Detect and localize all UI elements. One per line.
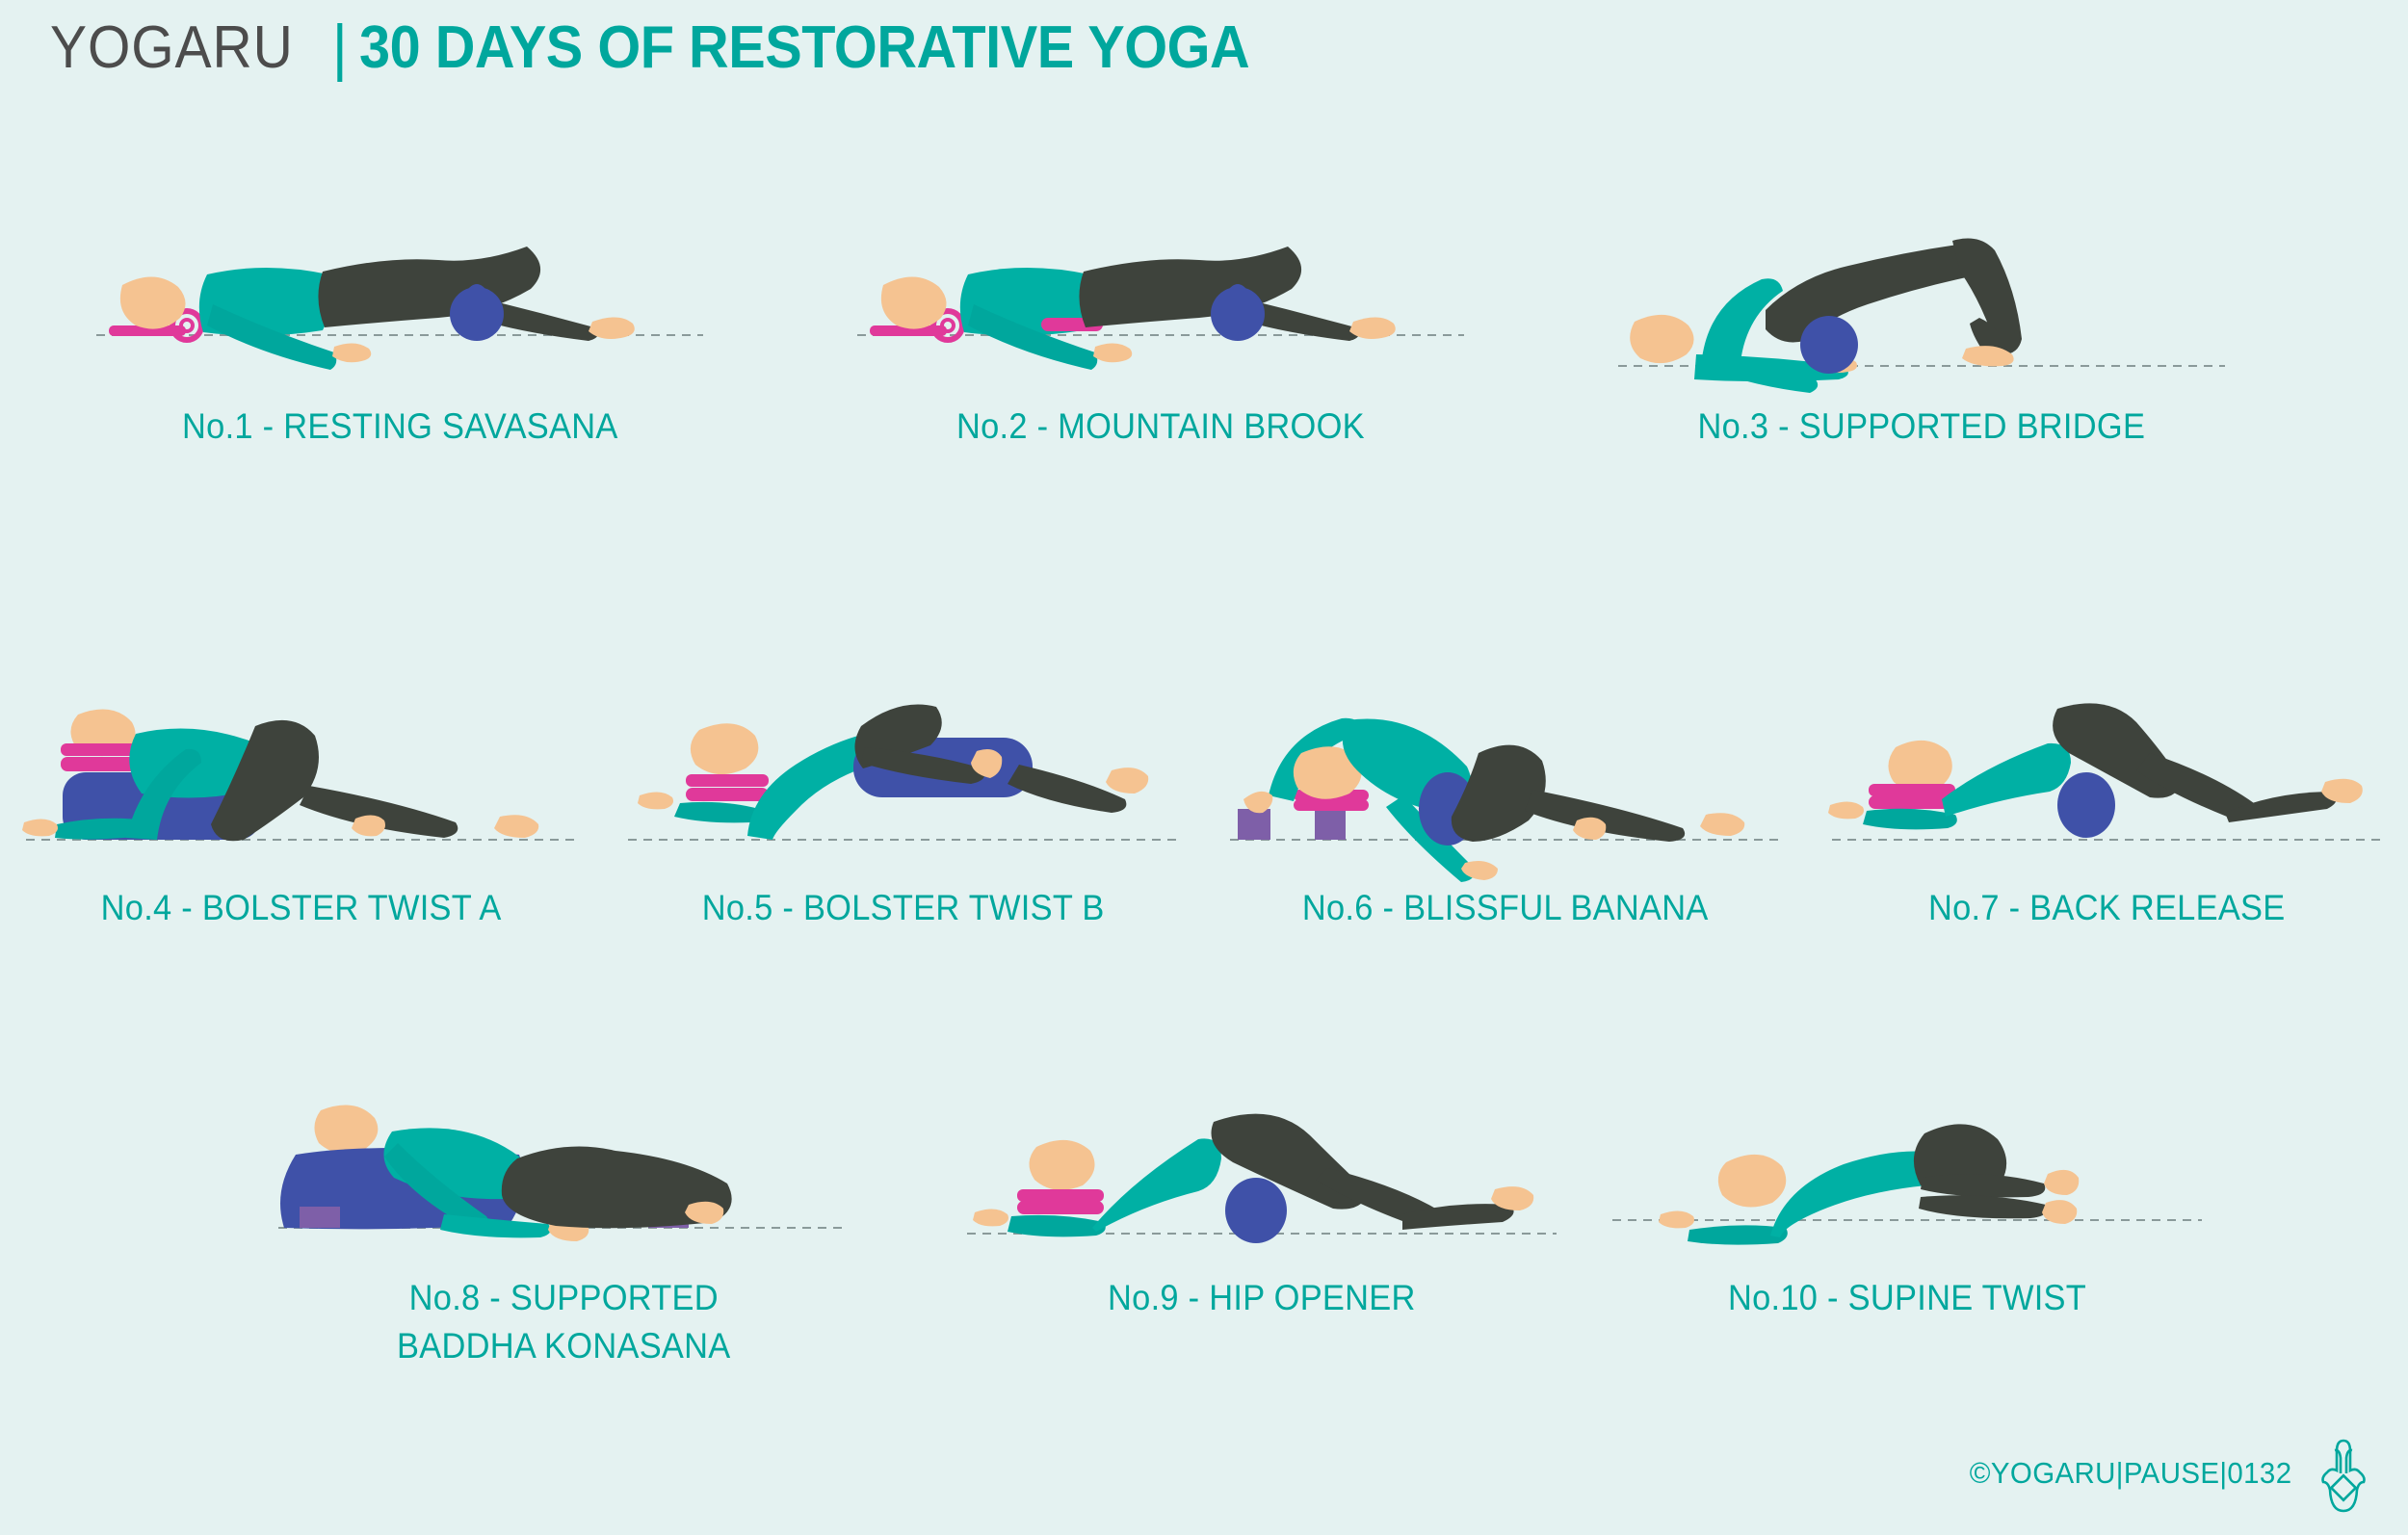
pose-caption-9: No.9 - HIP OPENER (1108, 1274, 1416, 1322)
torso-teal (1942, 743, 2071, 817)
pose-row-2: No.4 - BOLSTER TWIST A No.5 - BOLSTER TW… (0, 693, 2408, 932)
head (1029, 1140, 1094, 1190)
pose-caption-1: No.1 - RESTING SAVASANA (182, 403, 618, 451)
blue-bolster (2057, 772, 2115, 838)
page-title: 30 DAYS OF RESTORATIVE YOGA (359, 13, 1249, 82)
head (881, 276, 947, 328)
copyright-text: ©YOGARU|PAUSE|0132 (1970, 1456, 2292, 1491)
pose-card-7[interactable]: No.7 - BACK RELEASE (1806, 693, 2408, 932)
diamond-shape (2331, 1475, 2355, 1499)
pose-illustration-3 (1613, 221, 2230, 395)
torso-lifted-dark (1766, 243, 1983, 343)
hand-left (638, 792, 673, 809)
hand-left (973, 1209, 1008, 1226)
head (314, 1106, 378, 1154)
foot-right (1106, 767, 1148, 794)
foot-knee (352, 815, 385, 836)
head (690, 723, 757, 774)
pink-blanket-roll-spiral (181, 320, 193, 331)
knees-stacked-bottom (1919, 1195, 2047, 1218)
pose-illustration-10 (1609, 1093, 2206, 1266)
pink-folded-blanket-bottom (1017, 1201, 1104, 1214)
pose-caption-5: No.5 - BOLSTER TWIST B (702, 884, 1105, 932)
blue-block (1800, 316, 1858, 374)
pose-caption-7: No.7 - BACK RELEASE (1928, 884, 2286, 932)
hand-left (332, 343, 371, 362)
pose-caption-3: No.3 - SUPPORTED BRIDGE (1698, 403, 2146, 451)
header-separator: | (332, 12, 348, 84)
lower-leg-dark (1008, 765, 1126, 813)
pose-illustration-4 (22, 693, 581, 876)
pose-row-3: No.8 - SUPPORTED BADDHA KONASANA No.9 - … (0, 1093, 2408, 1369)
purple-block-left (300, 1207, 340, 1228)
foot-right (1349, 317, 1396, 339)
pose-caption-6: No.6 - BLISSFUL BANANA (1302, 884, 1709, 932)
pose-card-10[interactable]: No.10 - SUPINE TWIST (1580, 1093, 2235, 1369)
torso-teal (1092, 1138, 1221, 1232)
arm-teal (1008, 1215, 1106, 1236)
purple-block-center (1315, 809, 1346, 840)
foot-upper (2044, 1170, 2079, 1195)
foot-right (494, 815, 538, 838)
hamsa-hand-icon (2314, 1433, 2373, 1514)
pose-card-4[interactable]: No.4 - BOLSTER TWIST A (0, 693, 602, 932)
pose-card-6[interactable]: No.6 - BLISSFUL BANANA (1204, 693, 1806, 932)
foot-knee (1573, 818, 1606, 840)
pink-folded-blanket-top (686, 774, 769, 787)
hand-left (1093, 343, 1132, 362)
pose-caption-10: No.10 - SUPINE TWIST (1728, 1274, 2086, 1322)
pose-illustration-1 (92, 221, 708, 395)
pose-caption-4: No.4 - BOLSTER TWIST A (100, 884, 501, 932)
pink-folded-blanket-top (1017, 1189, 1104, 1202)
blue-block (1225, 1178, 1287, 1243)
page-footer: ©YOGARU|PAUSE|0132 (1961, 1433, 2373, 1514)
purple-block-left (1238, 809, 1270, 840)
pose-illustration-9 (963, 1093, 1560, 1266)
hand-left (1659, 1210, 1694, 1228)
head (1630, 315, 1693, 363)
pose-illustration-2 (852, 221, 1469, 395)
pose-card-8[interactable]: No.8 - SUPPORTED BADDHA KONASANA (183, 1093, 944, 1369)
pose-card-2[interactable]: No.2 - MOUNTAIN BROOK (780, 221, 1541, 451)
blue-bolster (450, 287, 504, 341)
pose-caption-8: No.8 - SUPPORTED BADDHA KONASANA (397, 1274, 730, 1369)
pink-folded-blanket-bottom (1294, 799, 1369, 811)
pose-card-1[interactable]: No.1 - RESTING SAVASANA (19, 221, 780, 451)
pose-card-9[interactable]: No.9 - HIP OPENER (944, 1093, 1580, 1369)
arm-teal (1863, 809, 1957, 830)
pose-illustration-5 (624, 693, 1183, 876)
foot-right (1700, 813, 1744, 836)
head (120, 276, 186, 328)
pink-folded-blanket-bottom (1869, 795, 1955, 809)
pose-row-1: No.1 - RESTING SAVASANA No.2 - MOUNTAIN (0, 221, 2408, 451)
foot-right (589, 317, 635, 339)
head (1718, 1155, 1786, 1208)
pose-card-3[interactable]: No.3 - SUPPORTED BRIDGE (1541, 221, 2302, 451)
hand-left (1828, 801, 1864, 819)
pose-caption-2: No.2 - MOUNTAIN BROOK (956, 403, 1365, 451)
pose-illustration-7 (1828, 693, 2387, 876)
torso-teal (747, 734, 874, 840)
pink-folded-blanket-top (1869, 784, 1955, 796)
hand-left (22, 819, 58, 836)
page-header: YOGARU | 30 DAYS OF RESTORATIVE YOGA (50, 13, 1317, 82)
brand-name: YOGARU (50, 13, 294, 82)
pink-folded-blanket-bottom (686, 788, 769, 801)
pose-card-5[interactable]: No.5 - BOLSTER TWIST B (602, 693, 1204, 932)
blue-bolster (1211, 287, 1265, 341)
arm-teal (674, 802, 761, 823)
pose-illustration-8 (275, 1093, 852, 1266)
knees-stacked-mid (1921, 1174, 2045, 1197)
lower-leg-dark (1525, 790, 1685, 842)
pink-blanket-roll-spiral (942, 320, 954, 331)
pose-illustration-6 (1226, 693, 1785, 876)
